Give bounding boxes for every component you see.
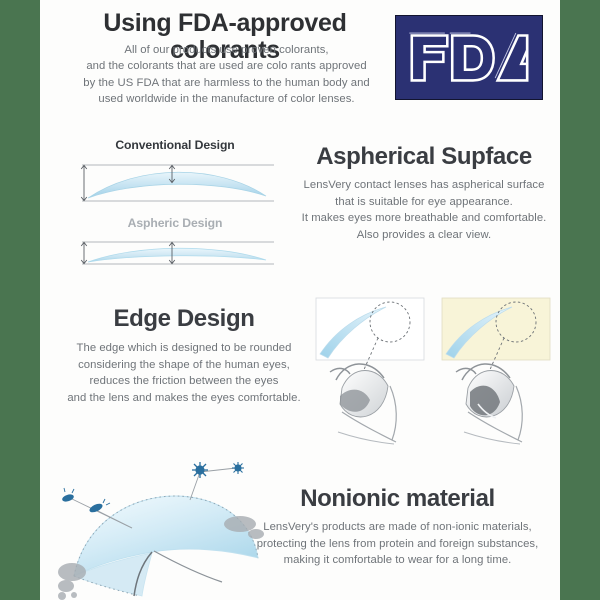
fda-logo bbox=[395, 15, 543, 100]
aspherical-section-title: Aspherical Supface bbox=[290, 144, 558, 170]
aspheric-lens-diagram bbox=[68, 236, 282, 282]
nonionic-text-block: Nonionic material LensVery's products ar… bbox=[240, 486, 555, 569]
section-fda-colorants: Using FDA-approved colorants All of our … bbox=[40, 0, 560, 128]
eye-cross-section-plain bbox=[312, 292, 432, 450]
conventional-design-label: Conventional Design bbox=[60, 138, 290, 152]
edge-text-block: Edge Design The edge which is designed t… bbox=[50, 306, 318, 406]
aspherical-text-block: Aspherical Supface LensVery contact lens… bbox=[290, 144, 558, 243]
section-nonionic-material: Nonionic material LensVery's products ar… bbox=[40, 452, 560, 600]
infographic-poster: Using FDA-approved colorants All of our … bbox=[40, 0, 560, 600]
conventional-lens-diagram bbox=[68, 158, 282, 210]
fda-section-paragraph: All of our products use proven colorants… bbox=[54, 42, 399, 108]
lens-profile-diagrams: Conventional Design bbox=[60, 138, 290, 288]
section-aspherical-surface: Conventional Design bbox=[40, 130, 560, 290]
nonionic-section-title: Nonionic material bbox=[240, 486, 555, 512]
edge-design-figures bbox=[312, 292, 560, 450]
aspherical-section-paragraph: LensVery contact lenses has aspherical s… bbox=[290, 177, 558, 243]
aspheric-design-label: Aspheric Design bbox=[60, 216, 290, 230]
frame-band-left bbox=[0, 0, 40, 600]
edge-section-title: Edge Design bbox=[50, 306, 318, 332]
nonionic-section-paragraph: LensVery's products are made of non-ioni… bbox=[240, 519, 555, 568]
section-edge-design: Edge Design The edge which is designed t… bbox=[40, 292, 560, 452]
frame-band-right bbox=[560, 0, 600, 600]
edge-section-paragraph: The edge which is designed to be rounded… bbox=[50, 340, 318, 406]
eye-cross-section-highlighted bbox=[438, 292, 558, 450]
